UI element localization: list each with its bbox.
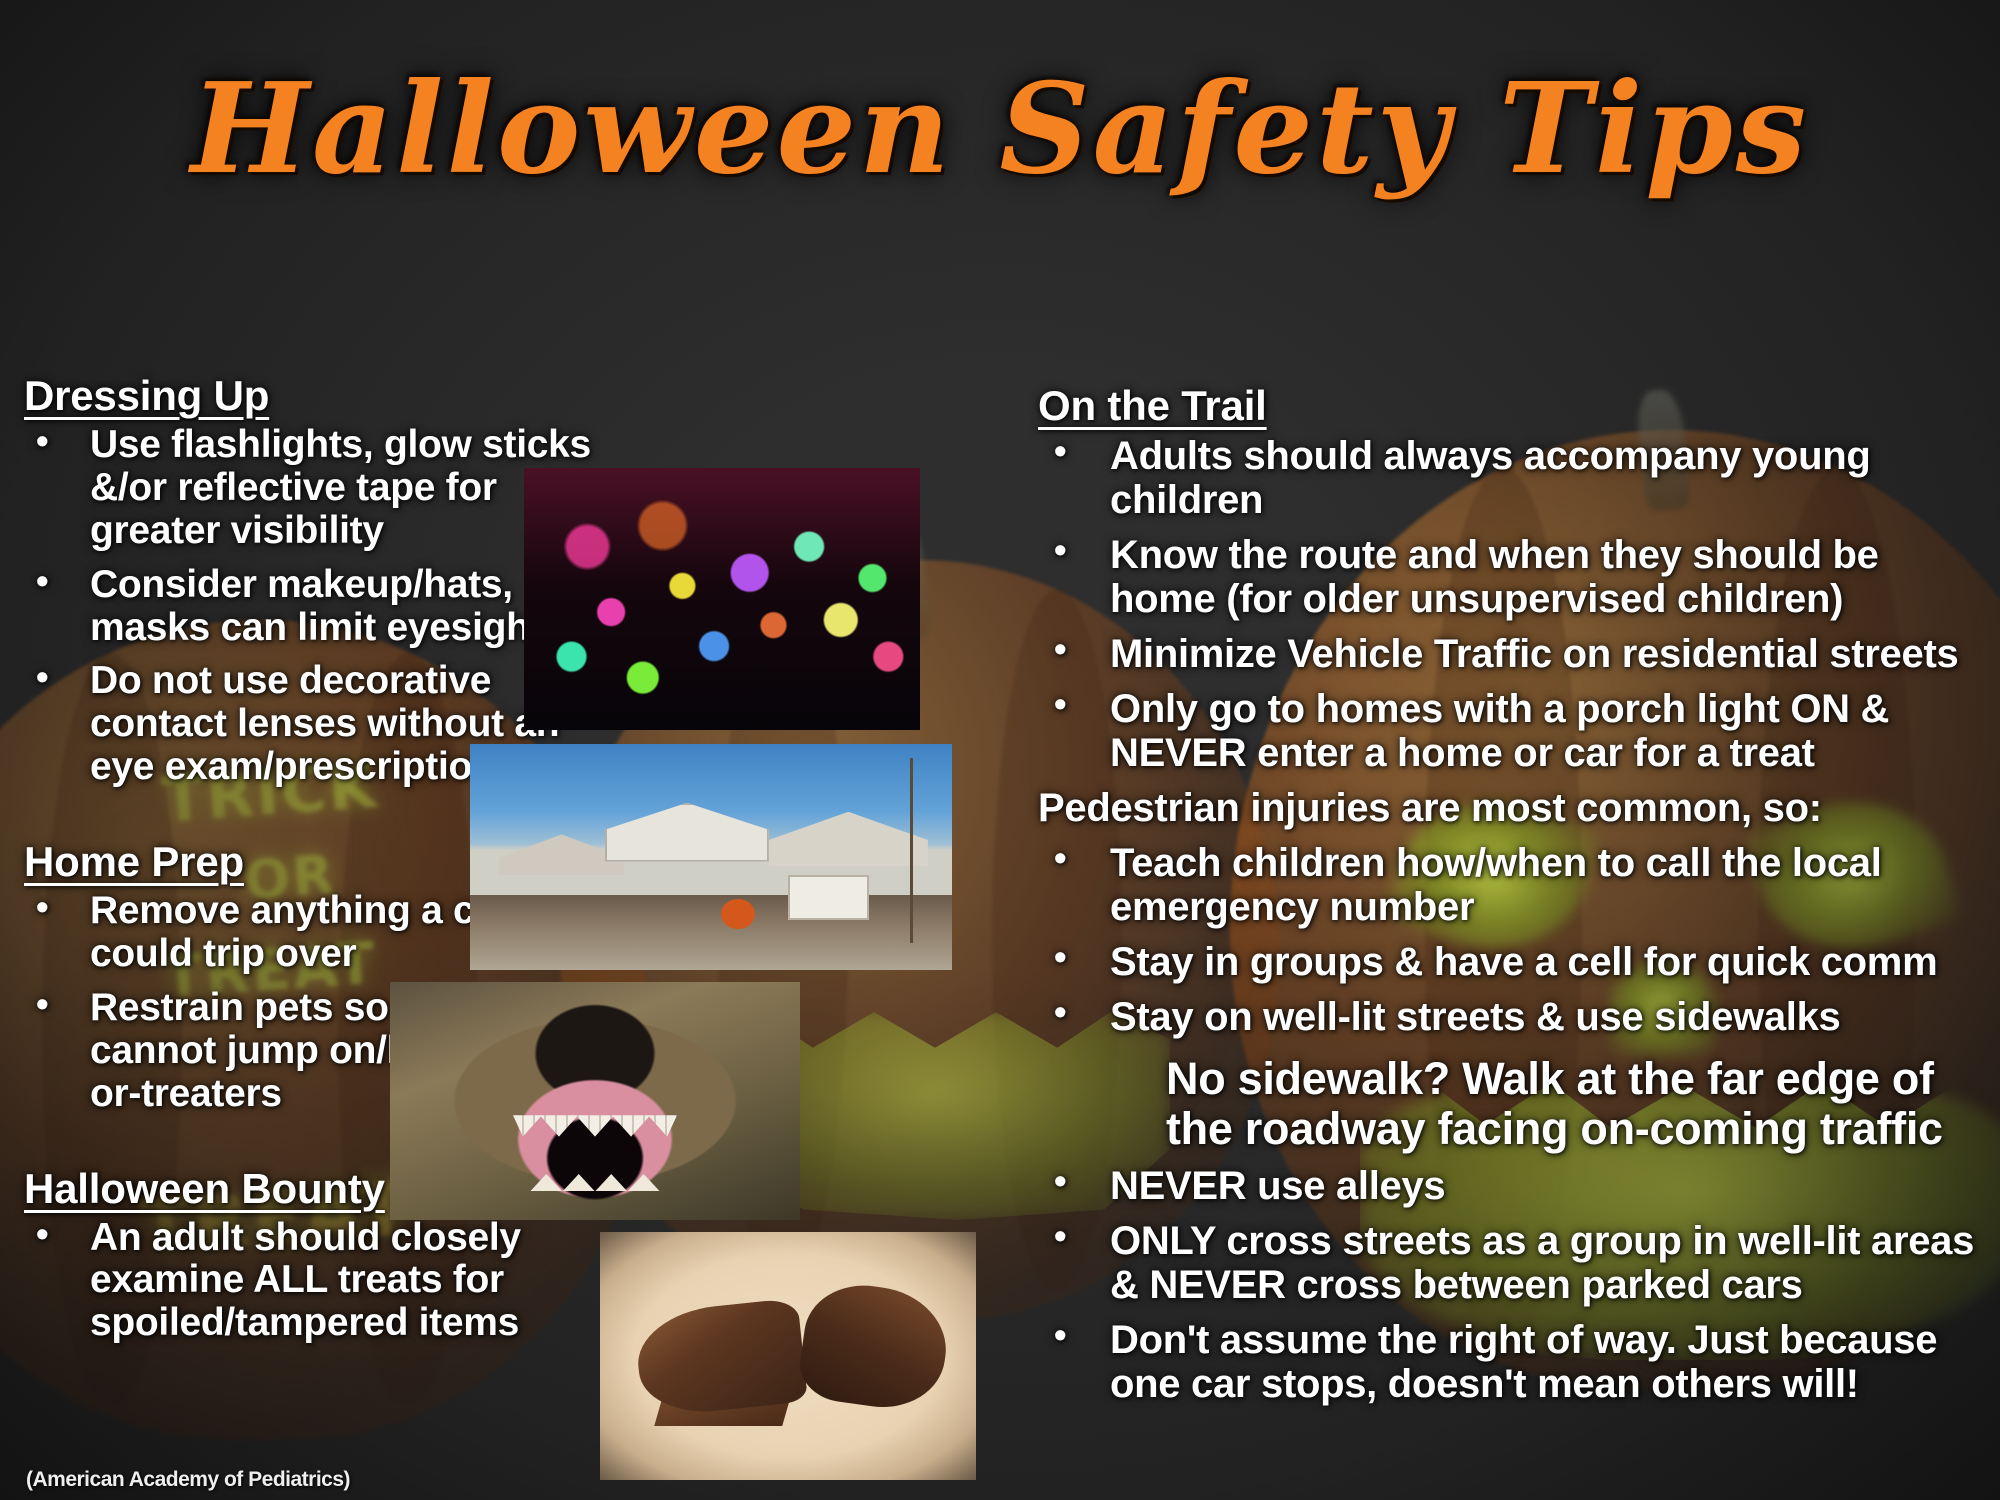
photo-pumpkin-decoration (721, 899, 755, 929)
source-attribution: (American Academy of Pediatrics) (26, 1468, 350, 1492)
glow-sticks-photo (524, 468, 920, 730)
photo-house-roof (769, 812, 928, 866)
list-item: ONLY cross streets as a group in well-li… (1038, 1219, 1990, 1318)
photo-ground (470, 895, 952, 970)
photo-dog-lower-teeth (521, 1172, 669, 1191)
houses-photo (470, 744, 952, 970)
list-item: NEVER use alleys (1038, 1164, 1990, 1219)
bullet-list-halloween-bounty: An adult should closely examine ALL trea… (14, 1217, 594, 1357)
photo-dog-upper-teeth (513, 1115, 677, 1136)
section-heading-on-the-trail: On the Trail (1038, 382, 1990, 430)
list-item: An adult should closely examine ALL trea… (14, 1217, 594, 1357)
photo-candy-piece (795, 1277, 953, 1415)
right-column: On the Trail Adults should always accomp… (1038, 382, 1990, 1417)
dog-photo (390, 982, 800, 1220)
list-item: Use flashlights, glow sticks &/or reflec… (14, 424, 594, 564)
list-item: Consider makeup/hats, masks can limit ey… (14, 564, 594, 661)
list-item-sub-note: No sidewalk? Walk at the far edge of the… (1038, 1050, 1990, 1164)
list-item-note: Pedestrian injuries are most common, so: (1038, 786, 1990, 841)
section-heading-dressing-up: Dressing Up (14, 372, 594, 420)
photo-tree (910, 758, 913, 943)
bullet-list-on-the-trail: Adults should always accompany young chi… (1038, 434, 1990, 1417)
list-item: Stay in groups & have a cell for quick c… (1038, 940, 1990, 995)
list-item: Teach children how/when to call the loca… (1038, 841, 1990, 940)
photo-garage-door (788, 875, 869, 920)
page-title: Halloween Safety Tips (0, 56, 2000, 202)
list-item: Adults should always accompany young chi… (1038, 434, 1990, 533)
photo-candy-piece (633, 1298, 808, 1419)
candy-photo (600, 1232, 976, 1480)
list-item: Minimize Vehicle Traffic on residential … (1038, 632, 1990, 687)
halloween-safety-tips-slide: TRICK OR TREAT TREAT Halloween Safety Ti… (0, 0, 2000, 1500)
list-item: Don't assume the right of way. Just beca… (1038, 1318, 1990, 1417)
list-item: Know the route and when they should be h… (1038, 533, 1990, 632)
list-item: Stay on well-lit streets & use sidewalks (1038, 995, 1990, 1050)
photo-house-roof (605, 803, 769, 862)
list-item: Only go to homes with a porch light ON &… (1038, 687, 1990, 786)
